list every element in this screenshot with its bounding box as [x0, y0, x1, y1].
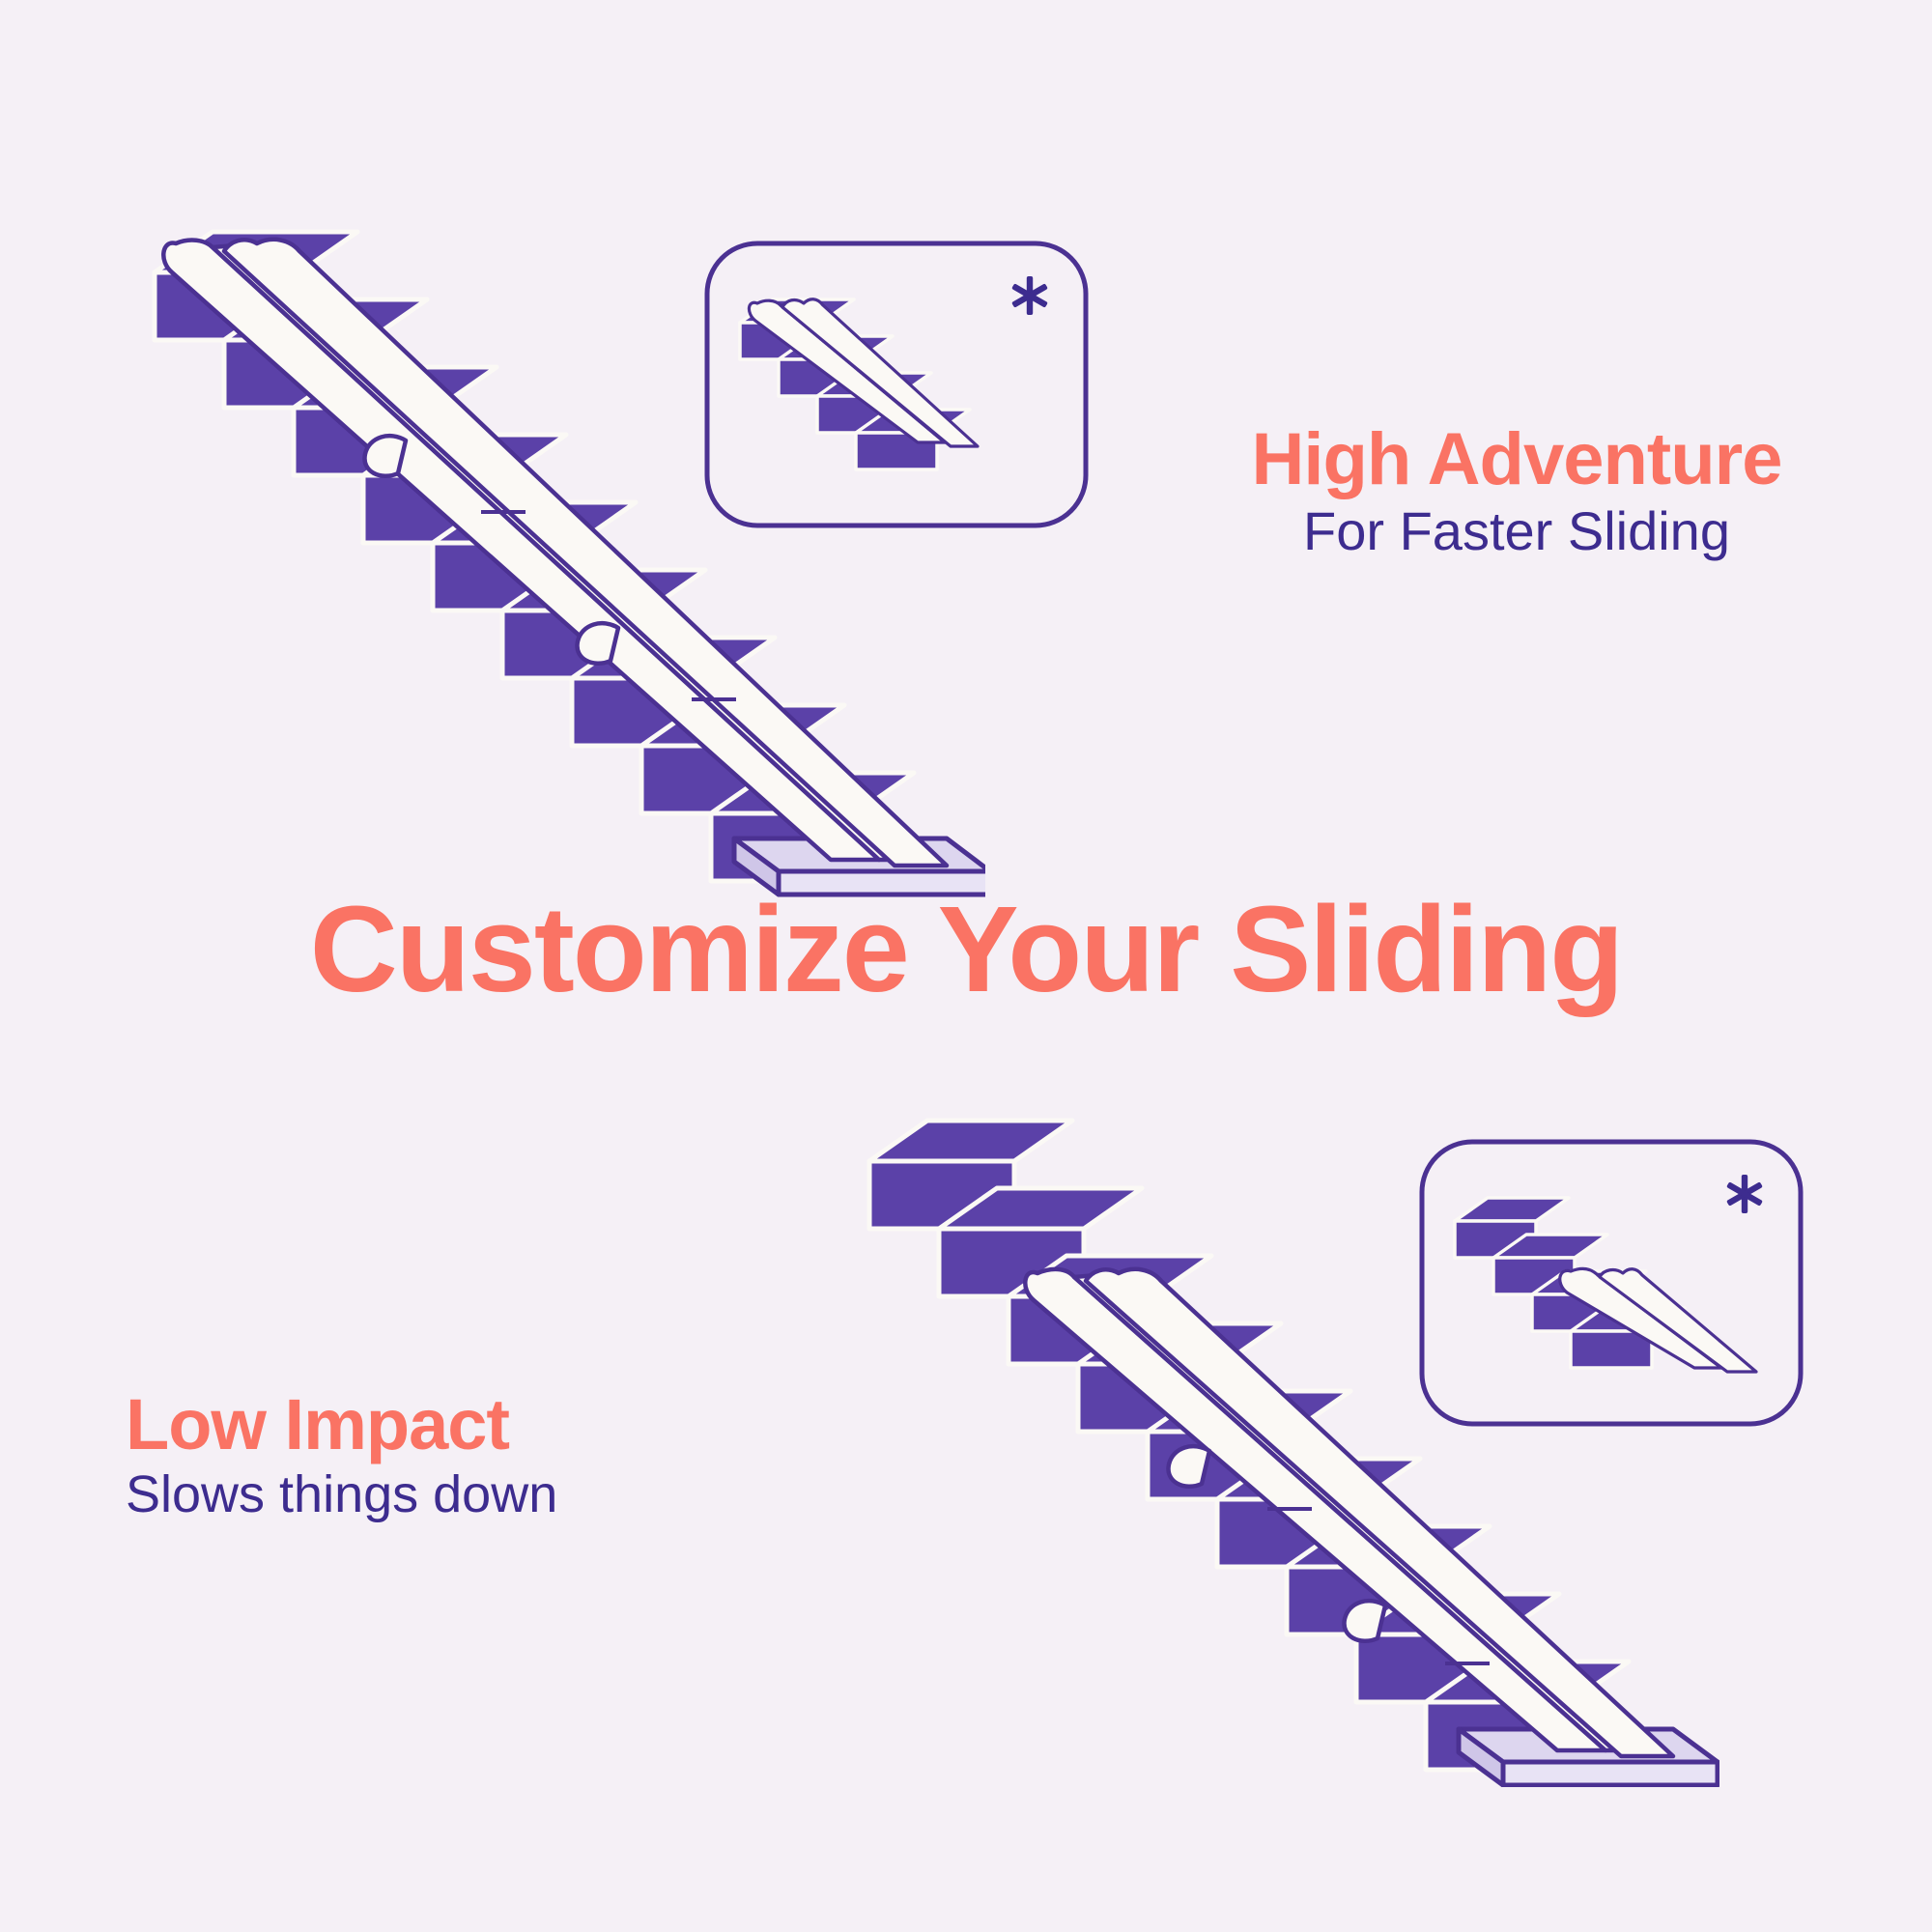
main-title: Customize Your Sliding	[0, 889, 1932, 1010]
feature-subtitle-low-impact: Slows things down	[126, 1464, 744, 1524]
inset-full-length-slide	[703, 240, 1090, 529]
feature-high-adventure: High Adventure For Faster Sliding	[1140, 425, 1893, 563]
feature-title-low-impact: Low Impact	[126, 1391, 744, 1459]
feature-title-high-adventure: High Adventure	[1140, 425, 1893, 495]
infographic-page: High Adventure For Faster Sliding Custom…	[0, 0, 1932, 1932]
feature-subtitle-high-adventure: For Faster Sliding	[1140, 500, 1893, 562]
inset-short-slide	[1418, 1138, 1804, 1428]
feature-low-impact: Low Impact Slows things down	[126, 1391, 744, 1524]
